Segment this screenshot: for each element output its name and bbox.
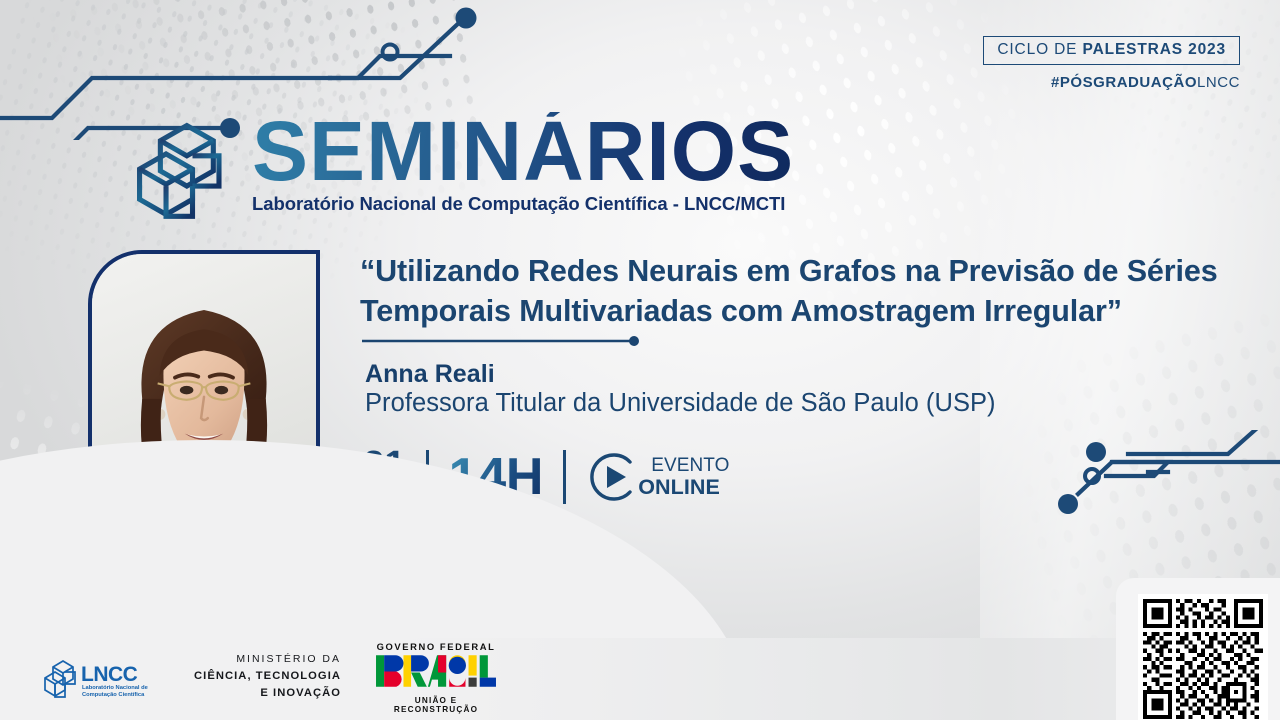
lncc-tagline-line2: Computação Científica bbox=[82, 692, 145, 698]
uniao-reconstrucao-label: UNIÃO E RECONSTRUÇÃO bbox=[375, 696, 497, 714]
brand-text: SEMINÁRIOS Laboratório Nacional de Compu… bbox=[252, 112, 794, 215]
brasil-wordmark-icon bbox=[375, 654, 497, 688]
lncc-footer-logo: LNCC Laboratório Nacional de Computação … bbox=[42, 652, 150, 702]
event-online-block: EVENTO ONLINE bbox=[586, 449, 729, 505]
footer-logos: LNCC Laboratório Nacional de Computação … bbox=[42, 648, 497, 706]
online-label-bottom: ONLINE bbox=[629, 477, 729, 499]
speaker-role: Professora Titular da Universidade de Sã… bbox=[365, 389, 996, 418]
lncc-tagline-line1: Laboratório Nacional de bbox=[82, 685, 148, 691]
meta-divider-2 bbox=[563, 450, 566, 504]
hashtag-light: LNCC bbox=[1197, 74, 1240, 91]
brand-lockup: SEMINÁRIOS Laboratório Nacional de Compu… bbox=[132, 112, 794, 224]
hashtag-bold: #PÓSGRADUAÇÃO bbox=[1051, 74, 1197, 91]
circuit-decoration-bottom-right bbox=[1050, 430, 1280, 550]
badge-prefix: CICLO DE bbox=[997, 41, 1082, 58]
online-label-top: EVENTO bbox=[629, 456, 729, 475]
online-text: EVENTO ONLINE bbox=[629, 456, 729, 499]
qr-panel[interactable] bbox=[1116, 578, 1280, 720]
seminarios-wordmark: SEMINÁRIOS bbox=[252, 112, 794, 191]
lncc-wordmark: LNCC bbox=[81, 663, 138, 686]
mcti-logo: MINISTÉRIO DA CIÊNCIA, TECNOLOGIA E INOV… bbox=[194, 652, 341, 701]
badge-emphasis: PALESTRAS 2023 bbox=[1083, 41, 1226, 58]
circuit-node-filled bbox=[1086, 442, 1106, 462]
speaker-name: Anna Reali bbox=[365, 360, 495, 389]
circuit-node-filled bbox=[1058, 494, 1078, 514]
brand-subtitle: Laboratório Nacional de Computação Cient… bbox=[252, 193, 794, 215]
mcti-line-3: E INOVAÇÃO bbox=[194, 685, 341, 702]
talk-title: “Utilizando Redes Neurais em Grafos na P… bbox=[360, 252, 1260, 331]
mcti-line-1: MINISTÉRIO DA bbox=[194, 652, 341, 668]
governo-federal-label: GOVERNO FEDERAL bbox=[375, 641, 497, 652]
hashtag: #PÓSGRADUAÇÃOLNCC bbox=[983, 74, 1240, 91]
qr-code-icon[interactable] bbox=[1138, 594, 1268, 720]
series-badge-block: CICLO DE PALESTRAS 2023 #PÓSGRADUAÇÃOLNC… bbox=[983, 36, 1240, 91]
governo-federal-logo: GOVERNO FEDERAL bbox=[375, 641, 497, 714]
series-badge: CICLO DE PALESTRAS 2023 bbox=[983, 36, 1240, 65]
circuit-node-hollow bbox=[1085, 469, 1099, 483]
circuit-node-hollow bbox=[383, 45, 398, 60]
lncc-cube-icon bbox=[132, 116, 236, 224]
title-divider bbox=[362, 336, 642, 346]
seminar-poster: CICLO DE PALESTRAS 2023 #PÓSGRADUAÇÃOLNC… bbox=[0, 0, 1280, 720]
lncc-cube-icon bbox=[45, 661, 75, 697]
mcti-line-2: CIÊNCIA, TECNOLOGIA bbox=[194, 668, 341, 685]
circuit-node-filled bbox=[456, 8, 477, 29]
